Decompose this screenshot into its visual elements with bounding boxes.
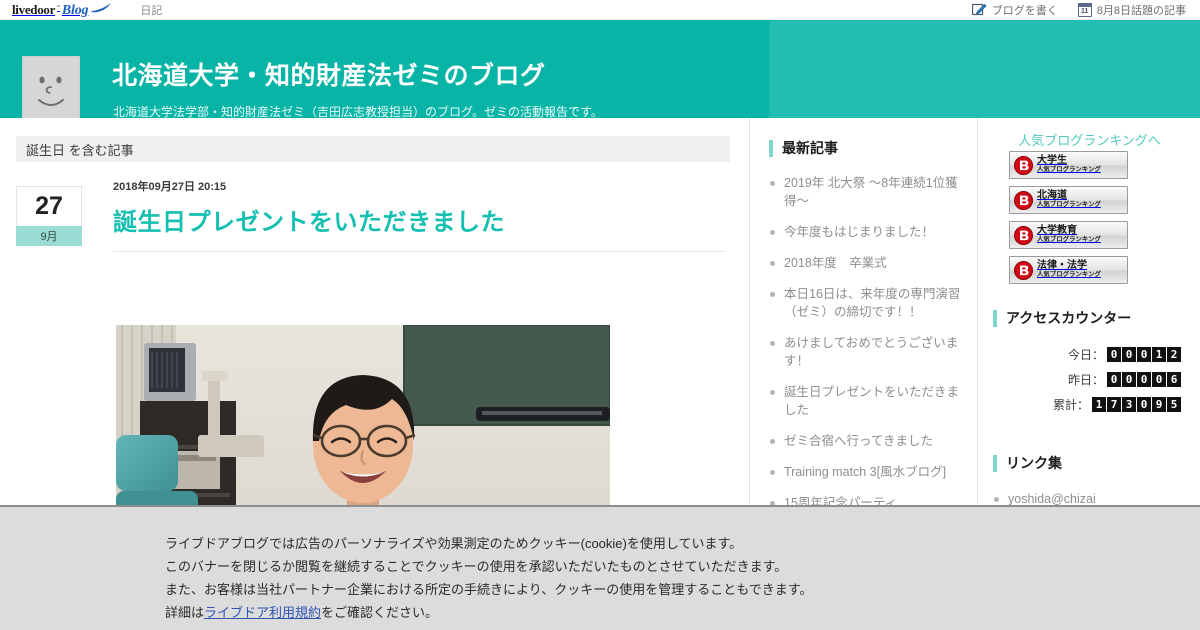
access-counter-section: アクセスカウンター 今日： 00012 昨日： 00006 累計： 173095 [993, 308, 1193, 413]
counter-digit: 0 [1122, 347, 1136, 362]
swoosh-icon [90, 0, 112, 10]
global-top-nav: livedoor ° Blog 日記 ブログを書く [0, 0, 1200, 20]
ranking-banner-text: 大学生 人気ブログランキング [1037, 156, 1101, 173]
latest-article-link[interactable]: 今年度もはじまりました！ [784, 225, 934, 239]
access-counter-row-total: 累計： 173095 [1053, 396, 1181, 413]
ranking-logo-icon [1014, 261, 1033, 280]
ranking-banner-text: 大学教育 人気ブログランキング [1037, 226, 1101, 243]
access-counter-label: 今日： [1068, 346, 1104, 363]
access-counter-heading: アクセスカウンター [993, 308, 1193, 328]
counter-digit: 0 [1122, 372, 1136, 387]
access-counter-row-yesterday: 昨日： 00006 [1068, 371, 1181, 388]
external-link[interactable]: yoshida@chizai [1008, 492, 1096, 506]
article-date-month: 9月 [16, 226, 82, 246]
latest-article-link[interactable]: Training match 3[風水ブログ] [784, 465, 946, 479]
article-title-link[interactable]: 誕生日プレゼントをいただきました [113, 202, 731, 237]
counter-digit: 0 [1107, 372, 1121, 387]
smiley-face-icon [23, 57, 79, 120]
ranking-logo-icon [1014, 191, 1033, 210]
cookie-text-line-1: ライブドアブログでは広告のパーソナライズや効果測定のためクッキー(cookie)… [165, 532, 812, 555]
latest-articles-heading: 最新記事 [769, 138, 965, 158]
access-counter-value: 00006 [1107, 372, 1181, 387]
counter-digit: 0 [1137, 347, 1151, 362]
ranking-banner-text: 北海道 人気ブログランキング [1037, 191, 1101, 208]
counter-digit: 1 [1092, 397, 1106, 412]
list-item[interactable]: 誕生日プレゼントをいただきました [769, 383, 965, 419]
counter-digit: 2 [1167, 347, 1181, 362]
cookie-banner-text: ライブドアブログでは広告のパーソナライズや効果測定のためクッキー(cookie)… [165, 532, 812, 624]
topics-article-link[interactable]: 11 8月8日話題の記事 [1078, 2, 1186, 18]
ranking-banner-university-education[interactable]: 大学教育 人気ブログランキング [1009, 221, 1128, 249]
ranking-logo-icon [1014, 226, 1033, 245]
ranking-banner-text: 法律・法学 人気ブログランキング [1037, 261, 1101, 278]
blog-ranking-banners: 大学生 人気ブログランキング 北海道 人気ブログランキング 大学教育 [1009, 151, 1128, 284]
top-nav-actions: ブログを書く 11 8月8日話題の記事 [972, 2, 1186, 18]
access-counter-value: 00012 [1107, 347, 1181, 362]
cookie-text-line-4: 詳細はライブドア利用規約をご確認ください。 [165, 601, 812, 624]
latest-article-link[interactable]: 2019年 北大祭 ～8年連続1位獲得～ [784, 176, 958, 208]
latest-article-link[interactable]: 誕生日プレゼントをいただきました [784, 385, 959, 417]
article-date-badge: 27 9月 [16, 186, 82, 246]
search-result-heading-text: 誕生日 を含む記事 [26, 140, 134, 159]
latest-article-link[interactable]: あけましておめでとうございます！ [784, 336, 958, 368]
counter-digit: 1 [1152, 347, 1166, 362]
nav-category-label[interactable]: 日記 [140, 2, 162, 18]
calendar-icon: 11 [1078, 3, 1092, 17]
logo-registered-mark: ° [57, 5, 60, 12]
access-counter-label: 累計： [1053, 396, 1089, 413]
list-item[interactable]: 2019年 北大祭 ～8年連続1位獲得～ [769, 174, 965, 210]
article-divider [113, 251, 725, 252]
list-item[interactable]: ゼミ合宿へ行ってきました [769, 432, 965, 450]
logo-livedoor-text: livedoor [12, 2, 55, 18]
list-item[interactable]: 今年度もはじまりました！ [769, 223, 965, 241]
topics-article-label: 8月8日話題の記事 [1097, 2, 1186, 18]
cookie-consent-banner: ライブドアブログでは広告のパーソナライズや効果測定のためクッキー(cookie)… [0, 505, 1200, 630]
counter-digit: 0 [1137, 372, 1151, 387]
list-item[interactable]: 2018年度 卒業式 [769, 254, 965, 272]
counter-digit: 3 [1122, 397, 1136, 412]
avatar[interactable] [22, 56, 80, 121]
access-counter-value: 173095 [1092, 397, 1181, 412]
ranking-banner-sub: 人気ブログランキング [1037, 237, 1101, 244]
list-item[interactable]: Training match 3[風水ブログ] [769, 463, 965, 481]
blog-header: 北海道大学・知的財産法ゼミのブログ 北海道大学法学部・知的財産法ゼミ（吉田広志教… [0, 20, 1200, 118]
cookie-text-line-2: このバナーを閉じるか閲覧を継続することでクッキーの使用を承認いただいたものとさせ… [165, 555, 812, 578]
latest-article-link[interactable]: ゼミ合宿へ行ってきました [784, 434, 933, 448]
ranking-banner-law[interactable]: 法律・法学 人気ブログランキング [1009, 256, 1128, 284]
access-counter-row-today: 今日： 00012 [1068, 346, 1181, 363]
article-header: 2018年09月27日 20:15 誕生日プレゼントをいただきました [113, 178, 731, 252]
counter-digit: 9 [1152, 397, 1166, 412]
write-blog-link[interactable]: ブログを書く [972, 2, 1058, 18]
ranking-banner-sub: 人気ブログランキング [1037, 202, 1101, 209]
search-result-heading-bar: 誕生日 を含む記事 [16, 136, 730, 162]
latest-article-link[interactable]: 2018年度 卒業式 [784, 256, 887, 270]
latest-article-link[interactable]: 本日16日は、来年度の専門演習（ゼミ）の締切です！！ [784, 287, 960, 319]
list-item[interactable]: あけましておめでとうございます！ [769, 334, 965, 370]
latest-articles-section: 最新記事 2019年 北大祭 ～8年連続1位獲得～ 今年度もはじまりました！ 2… [769, 138, 965, 525]
counter-digit: 0 [1152, 372, 1166, 387]
livedoor-blog-logo[interactable]: livedoor ° Blog [12, 1, 112, 19]
counter-digit: 7 [1107, 397, 1121, 412]
write-blog-label: ブログを書く [992, 2, 1058, 18]
ranking-banner-sub: 人気ブログランキング [1037, 272, 1101, 279]
ranking-banner-hokkaido[interactable]: 北海道 人気ブログランキング [1009, 186, 1128, 214]
counter-digit: 6 [1167, 372, 1181, 387]
blog-page: livedoor ° Blog 日記 ブログを書く [0, 0, 1200, 630]
counter-digit: 5 [1167, 397, 1181, 412]
article-date-day: 27 [16, 186, 82, 226]
terms-of-use-link[interactable]: ライブドア利用規約 [204, 605, 321, 620]
article-timestamp: 2018年09月27日 20:15 [113, 178, 731, 194]
blog-ranking-heading[interactable]: 人気ブログランキングへ [979, 130, 1200, 149]
counter-digit: 0 [1137, 397, 1151, 412]
cookie-text-line-4-post: をご確認ください。 [321, 605, 438, 620]
access-counter-label: 昨日： [1068, 371, 1104, 388]
list-item[interactable]: 本日16日は、来年度の専門演習（ゼミ）の締切です！！ [769, 285, 965, 321]
cookie-text-line-4-pre: 詳細は [165, 605, 204, 620]
ranking-banner-university-student[interactable]: 大学生 人気ブログランキング [1009, 151, 1128, 179]
logo-blog-text: Blog [62, 3, 88, 19]
links-heading: リンク集 [993, 453, 1193, 473]
calendar-day-number: 11 [1078, 7, 1092, 16]
blog-title[interactable]: 北海道大学・知的財産法ゼミのブログ [112, 56, 546, 92]
access-counter-rows: 今日： 00012 昨日： 00006 累計： 173095 [993, 346, 1193, 413]
ranking-logo-icon [1014, 156, 1033, 175]
cookie-text-line-3: また、お客様は当社パートナー企業における所定の手続きにより、クッキーの使用を管理… [165, 578, 812, 601]
counter-digit: 0 [1107, 347, 1121, 362]
pencil-icon [972, 3, 987, 16]
ranking-banner-sub: 人気ブログランキング [1037, 167, 1101, 174]
latest-articles-list: 2019年 北大祭 ～8年連続1位獲得～ 今年度もはじまりました！ 2018年度… [769, 174, 965, 512]
